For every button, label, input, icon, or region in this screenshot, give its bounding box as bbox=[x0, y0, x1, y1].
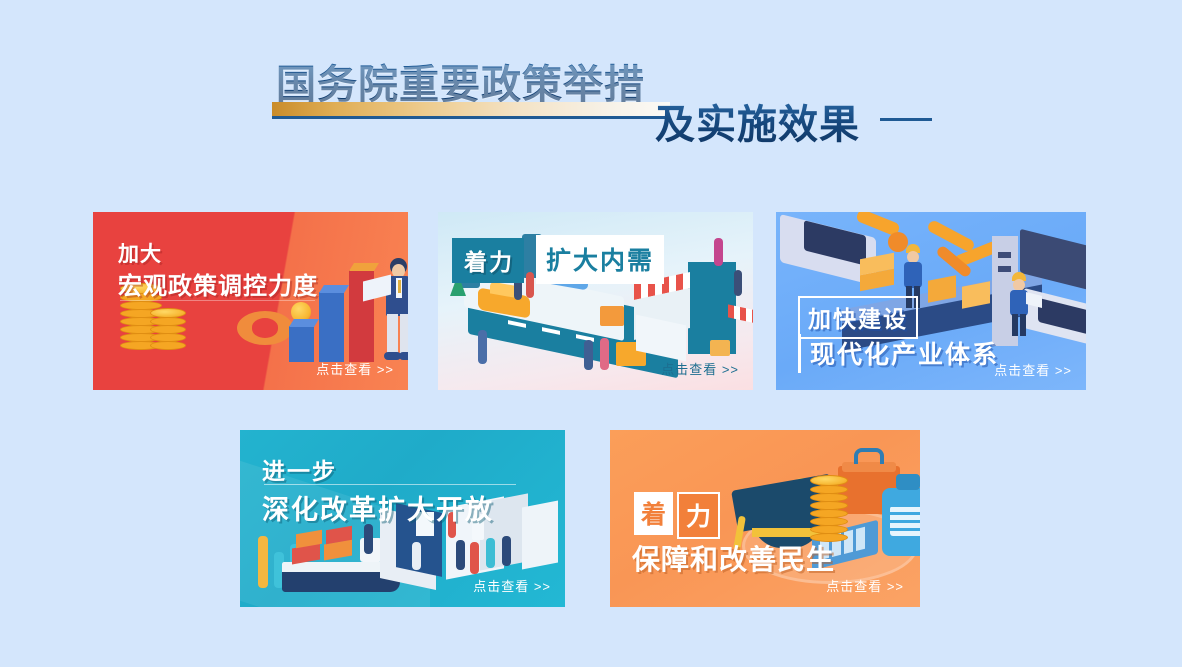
card1-title-line1: 加大 bbox=[118, 238, 162, 268]
card5-title-badge-a: 着 bbox=[634, 492, 673, 535]
card3-title-line2: 现代化产业体系 bbox=[798, 334, 1003, 373]
card2-title-badge-b-text: 扩大内需 bbox=[546, 247, 654, 275]
shopper-figure-5 bbox=[734, 270, 742, 296]
card-safeguard-improve-livelihood[interactable]: 着 力 保障和改善民生 点击查看 >> bbox=[610, 430, 920, 607]
title-trailing-dash bbox=[880, 118, 932, 121]
card2-title-badge-b: 扩大内需 bbox=[536, 235, 664, 284]
visitor-figure-3 bbox=[456, 540, 465, 570]
card1-cta-link[interactable]: 点击查看 >> bbox=[316, 359, 394, 378]
card5-title-badge-b: 力 bbox=[677, 492, 720, 539]
card5-title-badge-b-text: 力 bbox=[686, 503, 711, 531]
shopper-figure-2 bbox=[584, 340, 593, 370]
shopper-figure-1 bbox=[478, 330, 487, 364]
card4-cta-link[interactable]: 点击查看 >> bbox=[473, 576, 551, 595]
visitor-figure-6 bbox=[502, 536, 511, 566]
card4-title-line2: 深化改革扩大开放 bbox=[262, 488, 494, 527]
page-title-line2: 及实施效果 bbox=[655, 92, 860, 150]
shopper-figure-3 bbox=[600, 338, 609, 370]
bar-chart-bar-1 bbox=[289, 326, 314, 362]
factory-worker-2 bbox=[1008, 272, 1030, 336]
coin-stack-small-icon bbox=[150, 302, 186, 350]
card2-title-badge-a: 着力 bbox=[452, 238, 524, 283]
shopper-figure-4 bbox=[714, 238, 723, 266]
card5-cta-link[interactable]: 点击查看 >> bbox=[826, 576, 904, 595]
card5-title-line2: 保障和改善民生 bbox=[632, 538, 835, 578]
parcel-box-3 bbox=[710, 340, 730, 356]
card2-title-badge-a-text: 着力 bbox=[464, 249, 514, 275]
card-expand-domestic-demand[interactable]: 着力 扩大内需 点击查看 >> bbox=[438, 212, 753, 390]
card-macro-policy-regulation[interactable]: 加大 宏观政策调控力度 点击查看 >> bbox=[93, 212, 408, 390]
card3-title-line1: 加快建设 bbox=[798, 296, 918, 339]
card2-cta-link[interactable]: 点击查看 >> bbox=[661, 359, 739, 378]
page-header: 国务院重要政策举措 及实施效果 bbox=[0, 52, 1182, 162]
title-underline-rule bbox=[272, 116, 670, 119]
shopper-figure-7 bbox=[526, 272, 534, 298]
businessman-figure bbox=[379, 258, 408, 368]
gold-ring-icon bbox=[237, 311, 293, 345]
title-gold-bar bbox=[272, 102, 670, 116]
card1-title-line2: 宏观政策调控力度 bbox=[118, 266, 318, 301]
card3-cta-link[interactable]: 点击查看 >> bbox=[994, 360, 1072, 379]
coin-stack-icon bbox=[810, 466, 848, 542]
visitor-figure-7 bbox=[412, 542, 421, 570]
visitor-figure-4 bbox=[470, 542, 479, 574]
card5-title-badge-a-text: 着 bbox=[641, 501, 666, 529]
parcel-box-1 bbox=[600, 306, 624, 326]
bar-chart-bar-2 bbox=[319, 292, 344, 362]
booth-5 bbox=[522, 501, 558, 570]
robot-arm-center-1 bbox=[926, 219, 976, 253]
card4-title-line1: 进一步 bbox=[262, 452, 337, 486]
page-root: 国务院重要政策举措 及实施效果 bbox=[0, 0, 1182, 667]
visitor-figure-5 bbox=[486, 538, 495, 568]
visitor-figure-1 bbox=[364, 524, 373, 554]
card-deepen-reform-open-up[interactable]: 进一步 深化改革扩大开放 点击查看 >> bbox=[240, 430, 565, 607]
chart-bar-yellow bbox=[258, 536, 268, 588]
card-modern-industrial-system[interactable]: 加快建设 现代化产业体系 点击查看 >> bbox=[776, 212, 1086, 390]
